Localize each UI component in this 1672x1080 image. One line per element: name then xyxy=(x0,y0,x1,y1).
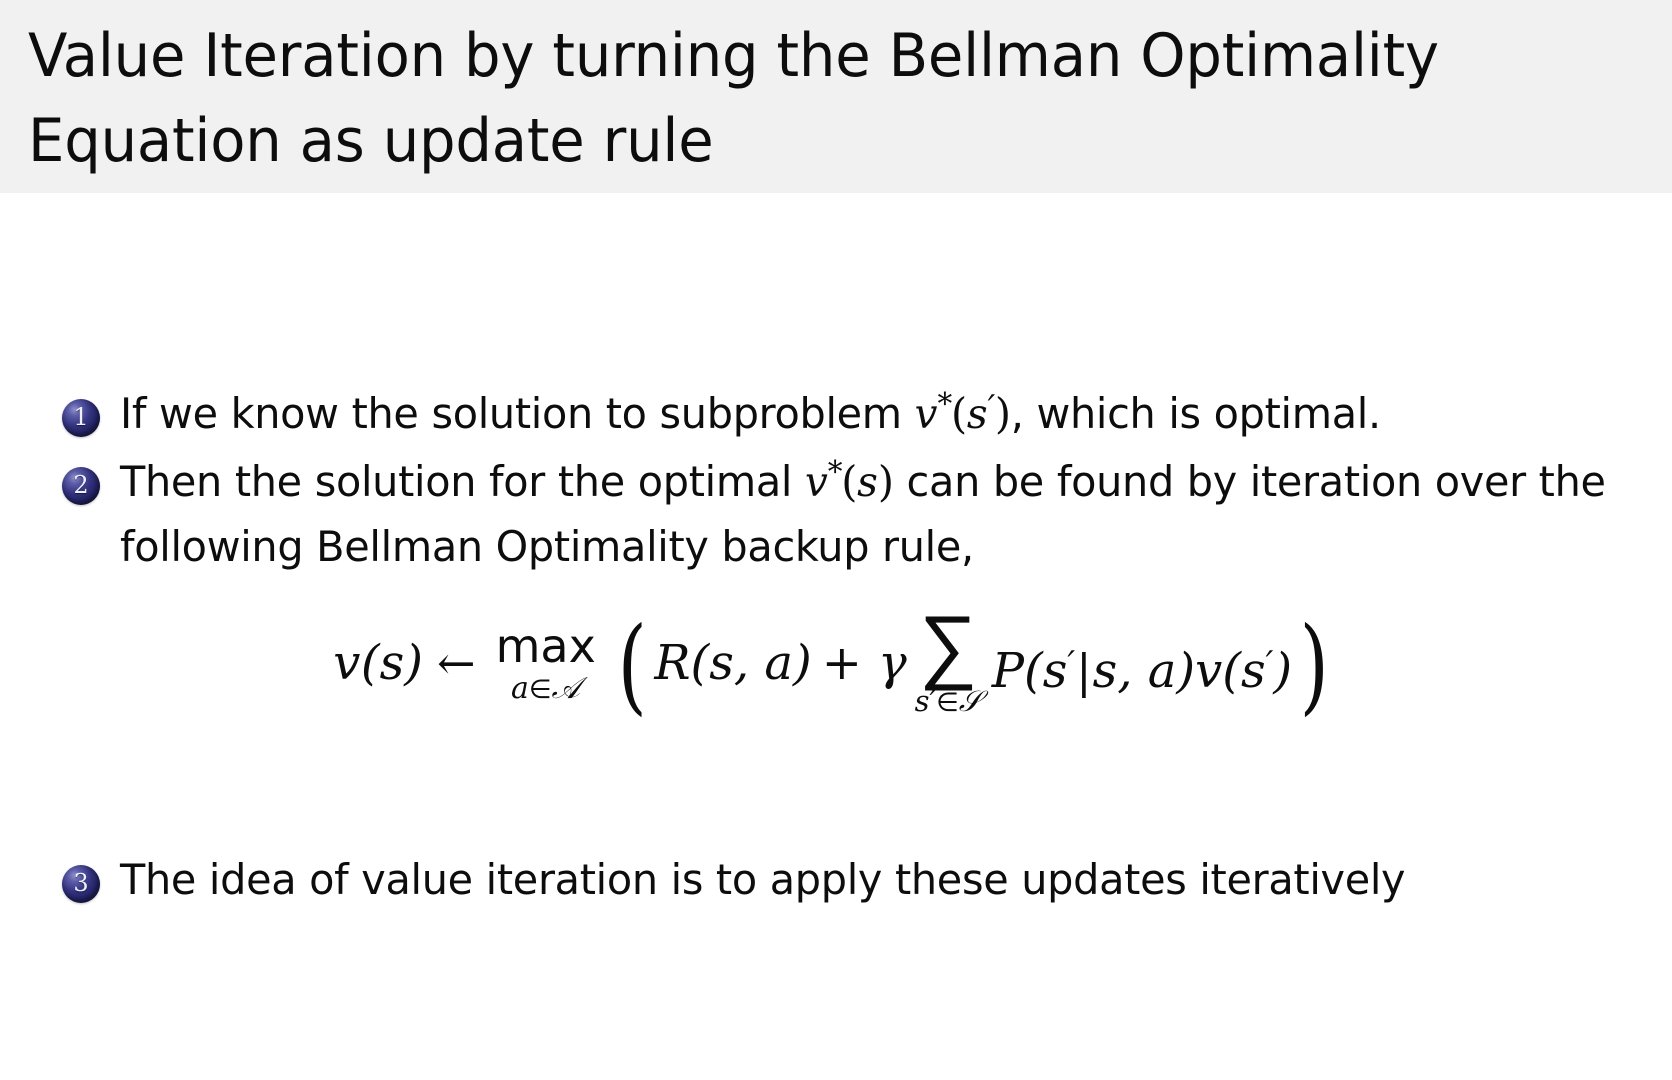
bullet-number-label: 3 xyxy=(73,871,88,895)
eq-sum-sub-set: 𝒮 xyxy=(959,684,982,718)
enumerated-list-continued: 3 The idea of value iteration is to appl… xyxy=(62,848,1632,916)
item1-lead: If we know the solution to subproblem xyxy=(120,389,915,438)
list-item-text: Then the solution for the optimal v*(s) … xyxy=(120,450,1607,579)
eq-sum-sub-var: s′ xyxy=(915,684,936,718)
eq-prob-P: P xyxy=(992,643,1024,699)
eq-sigma-icon: ∑ xyxy=(919,611,977,681)
eq-assign-arrow: ← xyxy=(437,640,476,686)
eq-lhs-open: ( xyxy=(361,639,380,687)
item1-open-paren: ( xyxy=(951,389,967,438)
item2-close-paren: ) xyxy=(878,457,894,506)
bellman-optimality-backup-equation: v(s) ← max a∈𝒜 ( R(s, a) + γ ∑ s′∈𝒮 P(s′… xyxy=(333,611,1338,716)
slide-body: 1 If we know the solution to subproblem … xyxy=(0,193,1672,1080)
list-item: 2 Then the solution for the optimal v*(s… xyxy=(62,450,1632,579)
item2-math-s: s xyxy=(857,458,878,506)
eq-value-open: ( xyxy=(1222,643,1241,699)
item1-tail: , which is optimal. xyxy=(1011,389,1381,438)
eq-value-s: s xyxy=(1241,643,1266,699)
eq-reward-args: (s, a) xyxy=(691,639,812,687)
bullet-number-sphere-icon: 1 xyxy=(62,399,100,437)
eq-lhs-s: s xyxy=(380,639,405,687)
eq-prob-args: s, a xyxy=(1093,643,1177,699)
eq-max-sub-in: ∈ xyxy=(529,675,552,705)
eq-max-sub-var: a xyxy=(511,671,529,706)
item1-math-s: s xyxy=(967,390,988,438)
eq-max-sub-set: 𝒜 xyxy=(552,671,581,706)
eq-sum-operator: ∑ s′∈𝒮 xyxy=(915,611,982,716)
list-item: 1 If we know the solution to subproblem … xyxy=(62,382,1632,446)
display-equation: v(s) ← max a∈𝒜 ( R(s, a) + γ ∑ s′∈𝒮 P(s′… xyxy=(0,611,1672,716)
slide-header: Value Iteration by turning the Bellman O… xyxy=(0,0,1672,193)
bullet-number-sphere-icon: 3 xyxy=(62,865,100,903)
eq-value-v: v xyxy=(1195,643,1222,699)
item1-math-v: v xyxy=(915,390,938,438)
list-item-text: If we know the solution to subproblem v*… xyxy=(120,382,1381,446)
item1-star: * xyxy=(937,387,951,422)
enumerated-list: 1 If we know the solution to subproblem … xyxy=(62,382,1632,583)
eq-max-subscript: a∈𝒜 xyxy=(511,674,580,704)
eq-sum-subscript: s′∈𝒮 xyxy=(915,687,982,716)
list-item: 3 The idea of value iteration is to appl… xyxy=(62,848,1632,912)
item1-close-paren: ) xyxy=(995,389,1011,438)
eq-lhs-v: v xyxy=(333,639,361,687)
eq-transition-term: P(s′|s, a)v(s′) xyxy=(992,647,1292,695)
eq-reward-R: R xyxy=(654,639,690,687)
eq-value-close: ) xyxy=(1273,643,1292,699)
eq-gamma: γ xyxy=(878,639,907,687)
eq-lhs-close: ) xyxy=(404,639,423,687)
eq-prob-sprime: s xyxy=(1043,643,1068,699)
eq-prob-open: ( xyxy=(1024,643,1043,699)
page-title: Value Iteration by turning the Bellman O… xyxy=(28,14,1568,184)
list-item-text: The idea of value iteration is to apply … xyxy=(120,848,1405,912)
eq-max-label: max xyxy=(496,623,596,669)
eq-prob-prime: ′ xyxy=(1067,644,1075,684)
eq-sum-sub-in: ∈ xyxy=(936,688,959,718)
item2-math-v: v xyxy=(805,458,828,506)
item2-lead: Then the solution for the optimal xyxy=(120,457,805,506)
eq-prob-bar: | xyxy=(1075,644,1093,698)
bullet-number-sphere-icon: 2 xyxy=(62,467,100,505)
eq-plus: + xyxy=(822,639,862,687)
item2-open-paren: ( xyxy=(841,457,857,506)
bullet-number-label: 1 xyxy=(73,405,88,429)
eq-prob-close: ) xyxy=(1176,643,1195,699)
eq-max-operator: max a∈𝒜 xyxy=(496,623,596,704)
bullet-number-label: 2 xyxy=(73,473,88,497)
